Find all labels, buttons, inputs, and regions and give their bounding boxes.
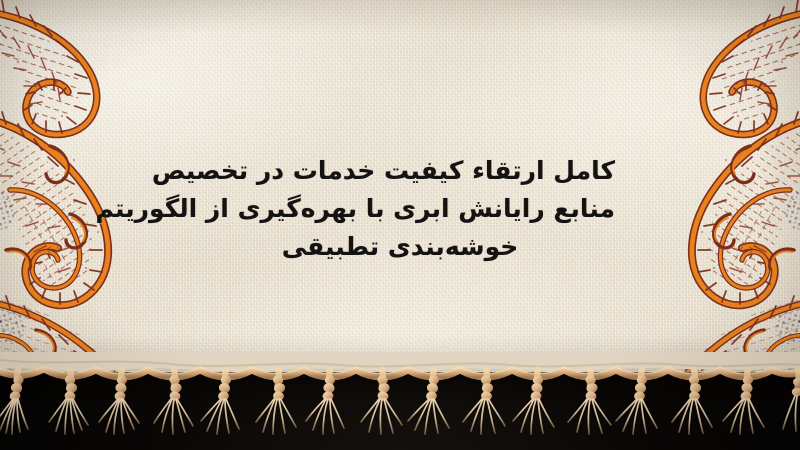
title-line-3: خوشه‌بندی تطبیقی — [185, 228, 615, 266]
title-text: کامل ارتقاء کیفیت خدمات در تخصیص منابع ر… — [0, 152, 800, 266]
title-line-1: کامل ارتقاء کیفیت خدمات در تخصیص — [185, 152, 615, 190]
tassel-group — [0, 370, 800, 434]
title-line-2: منابع رایانش ابری با بهره‌گیری از الگوری… — [185, 190, 615, 228]
title-card-canvas: کامل ارتقاء کیفیت خدمات در تخصیص منابع ر… — [0, 0, 800, 450]
tassel-fringe — [0, 352, 800, 450]
woven-linen-cloth: کامل ارتقاء کیفیت خدمات در تخصیص منابع ر… — [0, 0, 800, 372]
